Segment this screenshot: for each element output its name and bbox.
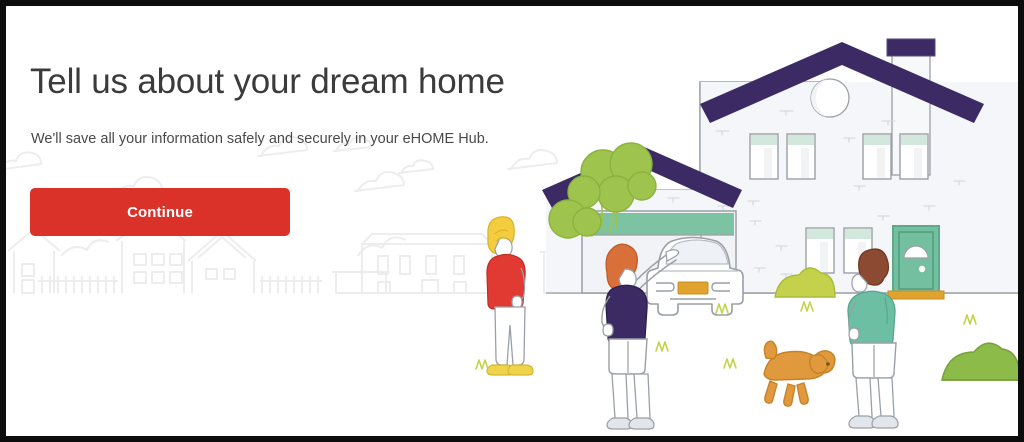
- page-subtitle: We'll save all your information safely a…: [31, 131, 489, 147]
- content-layer: Tell us about your dream home We'll save…: [6, 6, 1018, 436]
- page-canvas: Tell us about your dream home We'll save…: [6, 6, 1018, 436]
- page-title: Tell us about your dream home: [30, 62, 505, 102]
- screenshot-frame: Tell us about your dream home We'll save…: [0, 0, 1024, 442]
- continue-button[interactable]: Continue: [30, 188, 290, 236]
